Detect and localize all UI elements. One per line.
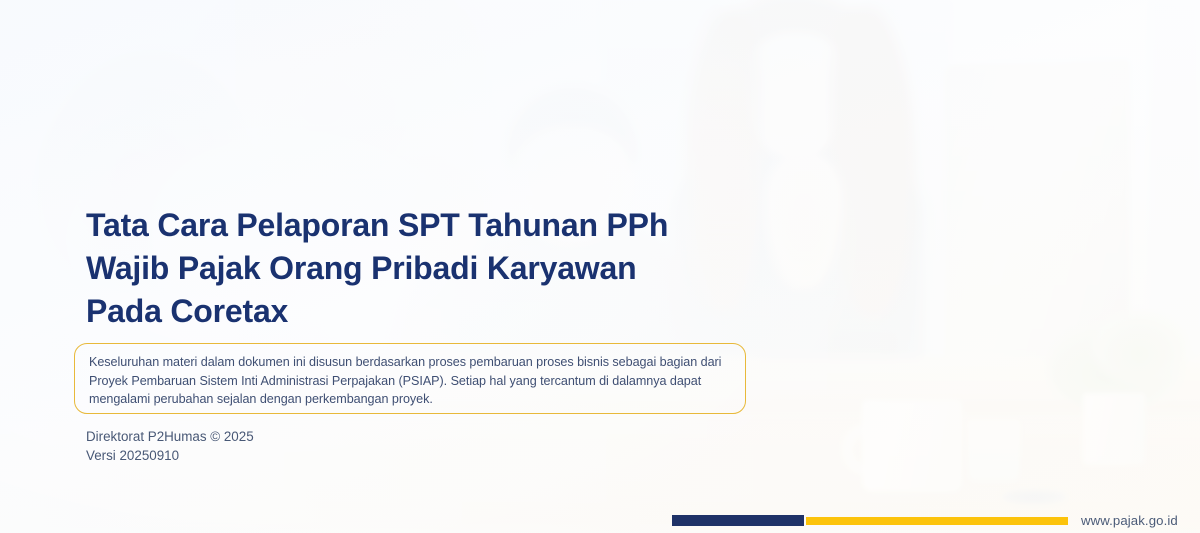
- plant-leaves-top: [1092, 312, 1187, 382]
- plant-pot: [1083, 393, 1145, 465]
- desk-coaster: [1002, 490, 1066, 504]
- credits-line-directorate: Direktorat P2Humas © 2025: [86, 428, 254, 447]
- coffee-mug: [862, 400, 962, 492]
- drinking-glass: [968, 420, 1020, 482]
- footer-website-url[interactable]: www.pajak.go.id: [1081, 512, 1178, 529]
- credits-line-version: Versi 20250910: [86, 447, 254, 466]
- slide-title: Tata Cara Pelaporan SPT Tahunan PPh Waji…: [86, 204, 786, 333]
- disclaimer-box: Keseluruhan materi dalam dokumen ini dis…: [74, 343, 746, 414]
- title-line-1: Tata Cara Pelaporan SPT Tahunan PPh: [86, 204, 786, 247]
- credits-block: Direktorat P2Humas © 2025 Versi 20250910: [86, 428, 254, 465]
- disclaimer-text: Keseluruhan materi dalam dokumen ini dis…: [89, 353, 729, 409]
- title-line-2: Wajib Pajak Orang Pribadi Karyawan: [86, 247, 786, 290]
- footer-bar-navy: [672, 515, 804, 526]
- title-line-3: Pada Coretax: [86, 290, 786, 333]
- presentation-slide: Tata Cara Pelaporan SPT Tahunan PPh Waji…: [0, 0, 1200, 533]
- footer-bar-yellow: [806, 517, 1068, 525]
